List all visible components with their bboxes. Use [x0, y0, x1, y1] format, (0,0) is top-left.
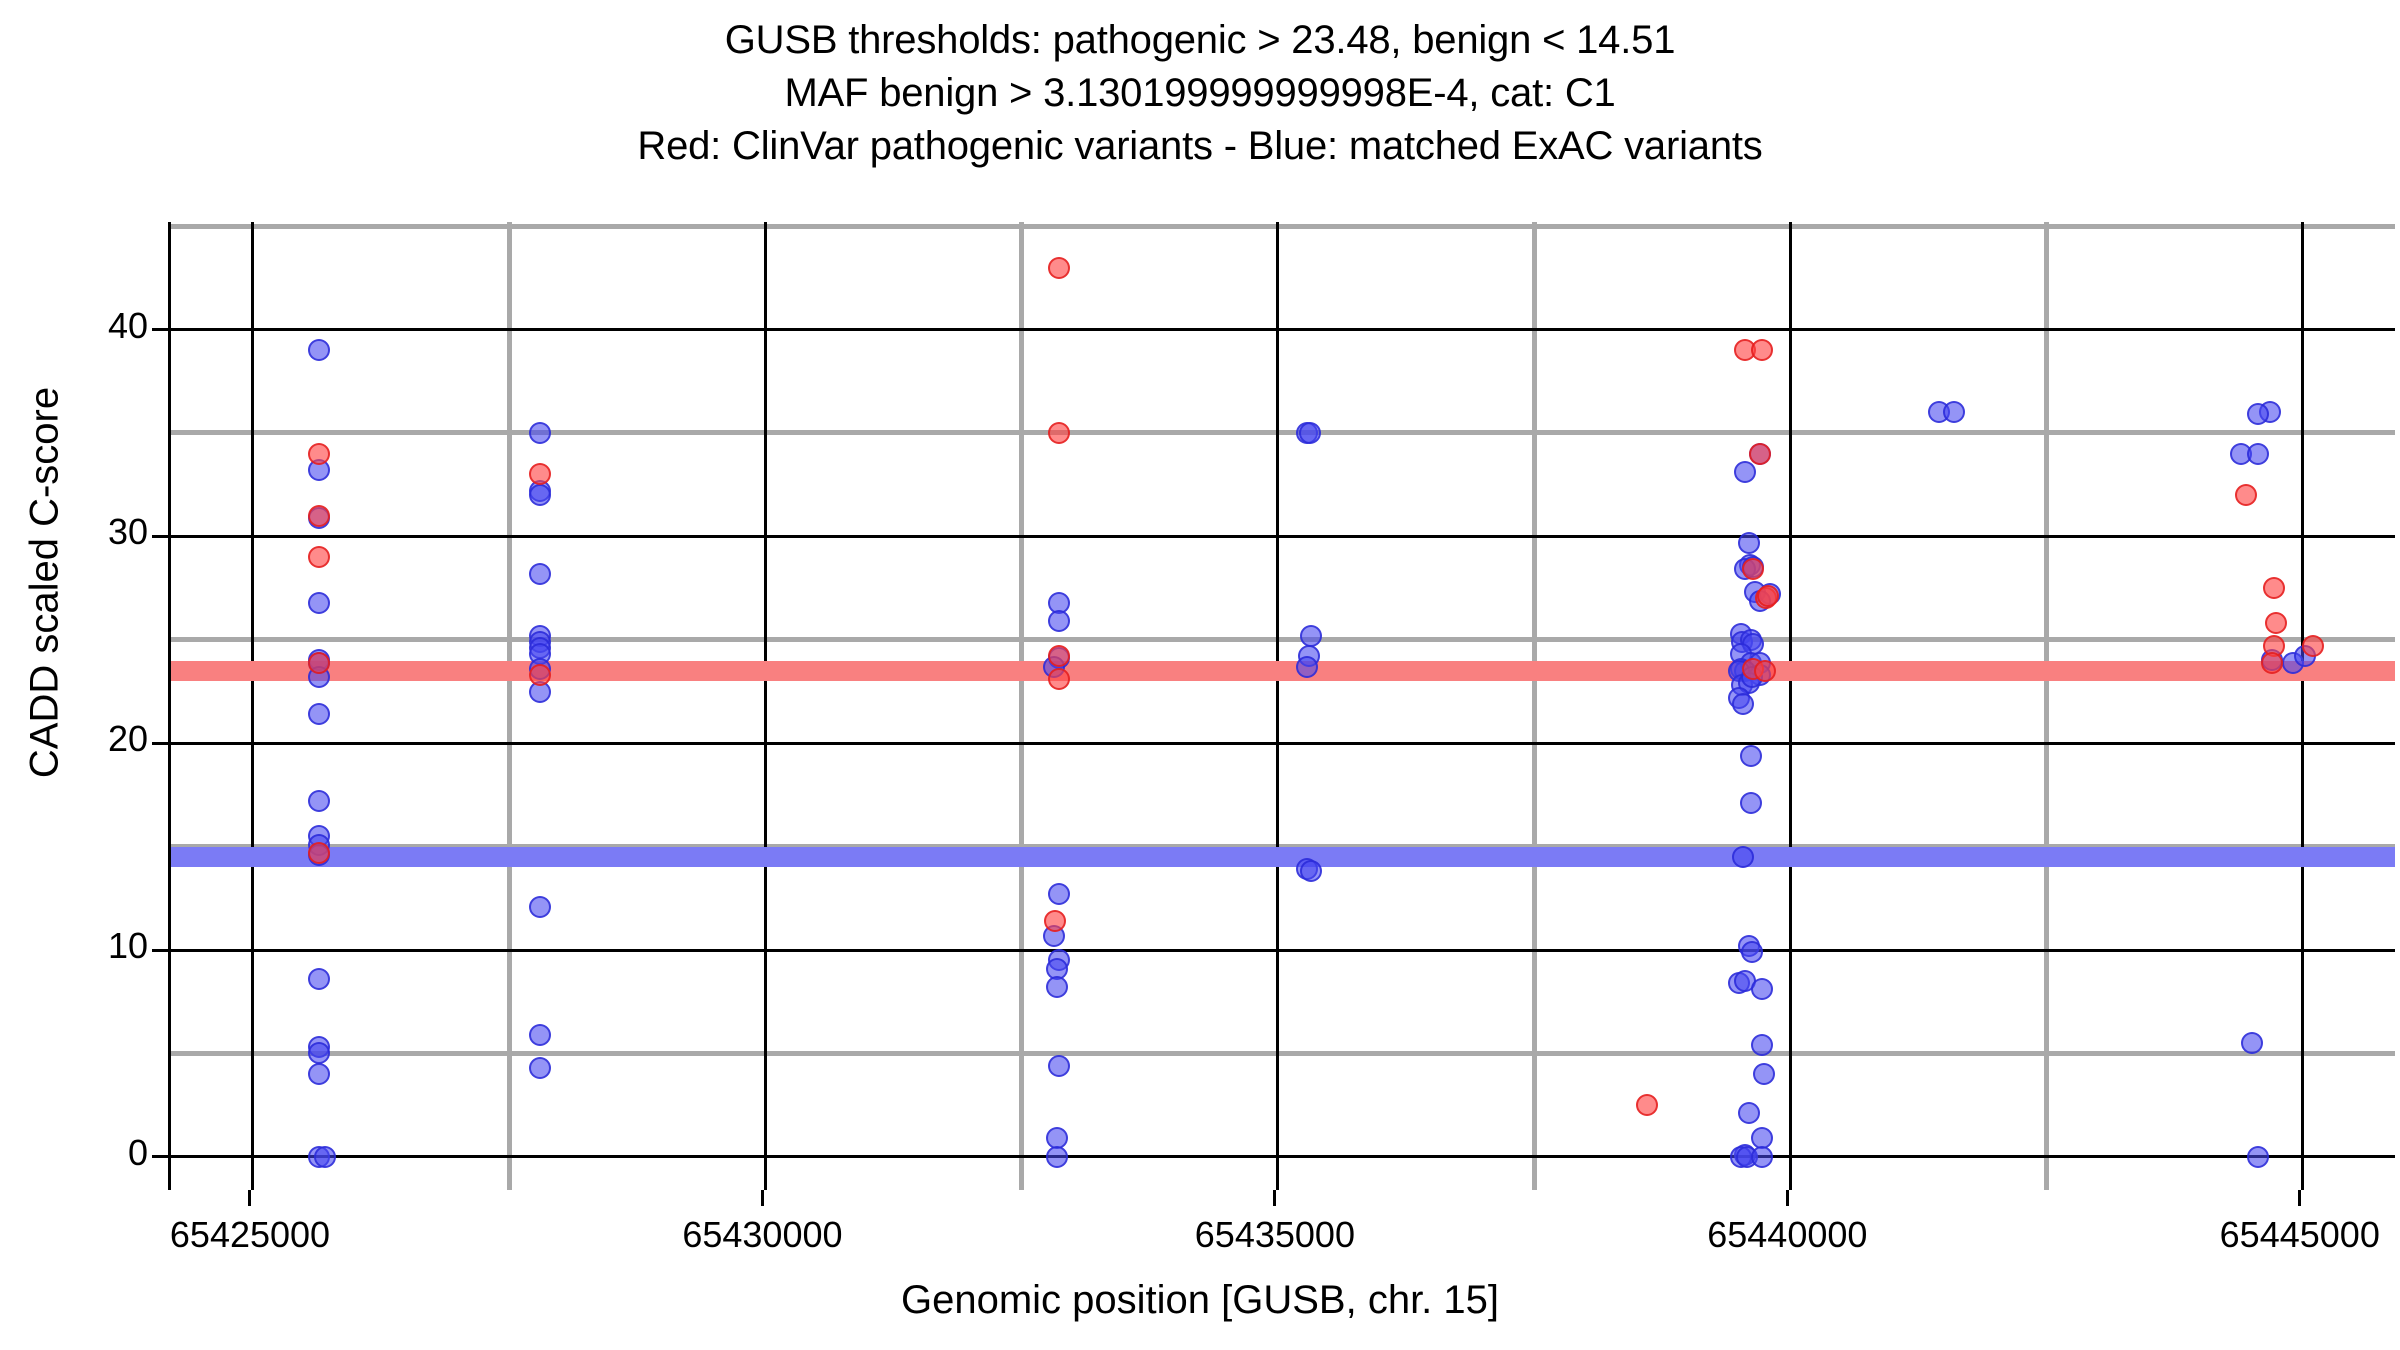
- gridline-vertical-minor: [507, 222, 512, 1190]
- data-point-pathogenic: [1636, 1094, 1658, 1116]
- x-axis-title: Genomic position [GUSB, chr. 15]: [0, 1278, 2400, 1323]
- data-point-pathogenic: [2261, 652, 2283, 674]
- data-point-exac: [1734, 461, 1756, 483]
- data-point-exac: [2247, 403, 2269, 425]
- data-point-exac: [1046, 1146, 1068, 1168]
- chart-title: GUSB thresholds: pathogenic > 23.48, ben…: [0, 14, 2400, 174]
- data-point-pathogenic: [1749, 443, 1771, 465]
- gridline-horizontal-major: [171, 949, 2395, 952]
- data-point-exac: [308, 1042, 330, 1064]
- data-point-exac: [2247, 1146, 2269, 1168]
- data-point-exac: [308, 339, 330, 361]
- gridline-horizontal-major: [171, 742, 2395, 745]
- scatter-plot-figure: GUSB thresholds: pathogenic > 23.48, ben…: [0, 0, 2400, 1350]
- data-point-pathogenic: [2302, 635, 2324, 657]
- x-tick-label: 65440000: [1707, 1214, 1867, 1256]
- data-point-pathogenic: [308, 546, 330, 568]
- x-tick-label: 65430000: [682, 1214, 842, 1256]
- x-tick-mark: [2298, 1190, 2301, 1206]
- gridline-vertical-major: [764, 222, 767, 1190]
- data-point-exac: [1732, 693, 1754, 715]
- data-point-exac: [1048, 1055, 1070, 1077]
- x-tick-mark: [1273, 1190, 1276, 1206]
- title-line-maf: MAF benign > 3.130199999999998E-4, cat: …: [0, 67, 2400, 120]
- data-point-exac: [1751, 1034, 1773, 1056]
- data-point-pathogenic: [308, 652, 330, 674]
- y-tick-mark: [152, 535, 168, 538]
- gridline-horizontal-major: [171, 1155, 2395, 1158]
- gridline-horizontal-minor: [171, 224, 2395, 229]
- gridline-vertical-major: [2301, 222, 2304, 1190]
- data-point-pathogenic: [1044, 910, 1066, 932]
- data-point-exac: [529, 1024, 551, 1046]
- data-point-exac: [314, 1146, 336, 1168]
- data-point-pathogenic: [1742, 558, 1764, 580]
- data-point-exac: [1751, 1146, 1773, 1168]
- gridline-vertical-minor: [1532, 222, 1537, 1190]
- gridline-vertical-major: [251, 222, 254, 1190]
- title-line-legend: Red: ClinVar pathogenic variants - Blue:…: [0, 120, 2400, 173]
- data-point-pathogenic: [1757, 585, 1779, 607]
- data-point-exac: [529, 896, 551, 918]
- data-point-exac: [1751, 978, 1773, 1000]
- data-point-pathogenic: [1048, 422, 1070, 444]
- data-point-exac: [1299, 422, 1321, 444]
- data-point-pathogenic: [1751, 339, 1773, 361]
- data-point-exac: [529, 484, 551, 506]
- data-point-exac: [2247, 443, 2269, 465]
- x-tick-label: 65435000: [1195, 1214, 1355, 1256]
- data-point-exac: [1738, 532, 1760, 554]
- y-tick-mark: [152, 742, 168, 745]
- data-point-exac: [1740, 745, 1762, 767]
- data-point-pathogenic: [1754, 660, 1776, 682]
- data-point-exac: [1732, 846, 1754, 868]
- plot-area: [168, 222, 2395, 1190]
- data-point-pathogenic: [529, 664, 551, 686]
- y-tick-mark: [152, 328, 168, 331]
- data-point-exac: [1300, 625, 1322, 647]
- gridline-horizontal-major: [171, 328, 2395, 331]
- data-point-exac: [1296, 656, 1318, 678]
- title-line-thresholds: GUSB thresholds: pathogenic > 23.48, ben…: [0, 14, 2400, 67]
- data-point-pathogenic: [1048, 645, 1070, 667]
- data-point-exac: [308, 1063, 330, 1085]
- data-point-pathogenic: [308, 443, 330, 465]
- data-point-pathogenic: [2235, 484, 2257, 506]
- gridline-horizontal-minor: [171, 430, 2395, 435]
- gridline-vertical-minor: [2044, 222, 2049, 1190]
- data-point-pathogenic: [2265, 612, 2287, 634]
- data-point-exac: [1300, 860, 1322, 882]
- data-point-exac: [2241, 1032, 2263, 1054]
- data-point-pathogenic: [308, 505, 330, 527]
- data-point-pathogenic: [1048, 257, 1070, 279]
- data-point-exac: [308, 790, 330, 812]
- pathogenic-threshold-band: [171, 661, 2395, 681]
- data-point-exac: [1048, 610, 1070, 632]
- data-point-pathogenic: [2263, 577, 2285, 599]
- data-point-pathogenic: [1048, 668, 1070, 690]
- y-tick-mark: [152, 949, 168, 952]
- x-tick-label: 65425000: [170, 1214, 330, 1256]
- plot-inner: [171, 222, 2395, 1190]
- data-point-exac: [1046, 976, 1068, 998]
- gridline-horizontal-major: [171, 535, 2395, 538]
- data-point-exac: [1740, 792, 1762, 814]
- gridline-vertical-major: [1276, 222, 1279, 1190]
- data-point-exac: [1753, 1063, 1775, 1085]
- y-axis-title: CADD scaled C-score: [23, 183, 68, 983]
- data-point-exac: [1741, 941, 1763, 963]
- data-point-exac: [529, 422, 551, 444]
- gridline-horizontal-minor: [171, 1051, 2395, 1056]
- gridline-vertical-major: [1789, 222, 1792, 1190]
- data-point-exac: [1943, 401, 1965, 423]
- data-point-exac: [529, 563, 551, 585]
- data-point-exac: [1048, 883, 1070, 905]
- x-tick-mark: [761, 1190, 764, 1206]
- data-point-pathogenic: [308, 842, 330, 864]
- x-tick-label: 65445000: [2220, 1214, 2380, 1256]
- y-tick-mark: [152, 1155, 168, 1158]
- x-tick-mark: [1786, 1190, 1789, 1206]
- x-axis-tick-labels: 6542500065430000654350006544000065445000: [168, 1190, 2392, 1270]
- benign-threshold-band: [171, 847, 2395, 867]
- gridline-vertical-minor: [1019, 222, 1024, 1190]
- data-point-exac: [308, 968, 330, 990]
- data-point-exac: [1738, 1102, 1760, 1124]
- gridline-horizontal-minor: [171, 637, 2395, 642]
- data-point-exac: [308, 703, 330, 725]
- data-point-exac: [308, 592, 330, 614]
- data-point-exac: [529, 1057, 551, 1079]
- data-point-pathogenic: [529, 463, 551, 485]
- x-tick-mark: [248, 1190, 251, 1206]
